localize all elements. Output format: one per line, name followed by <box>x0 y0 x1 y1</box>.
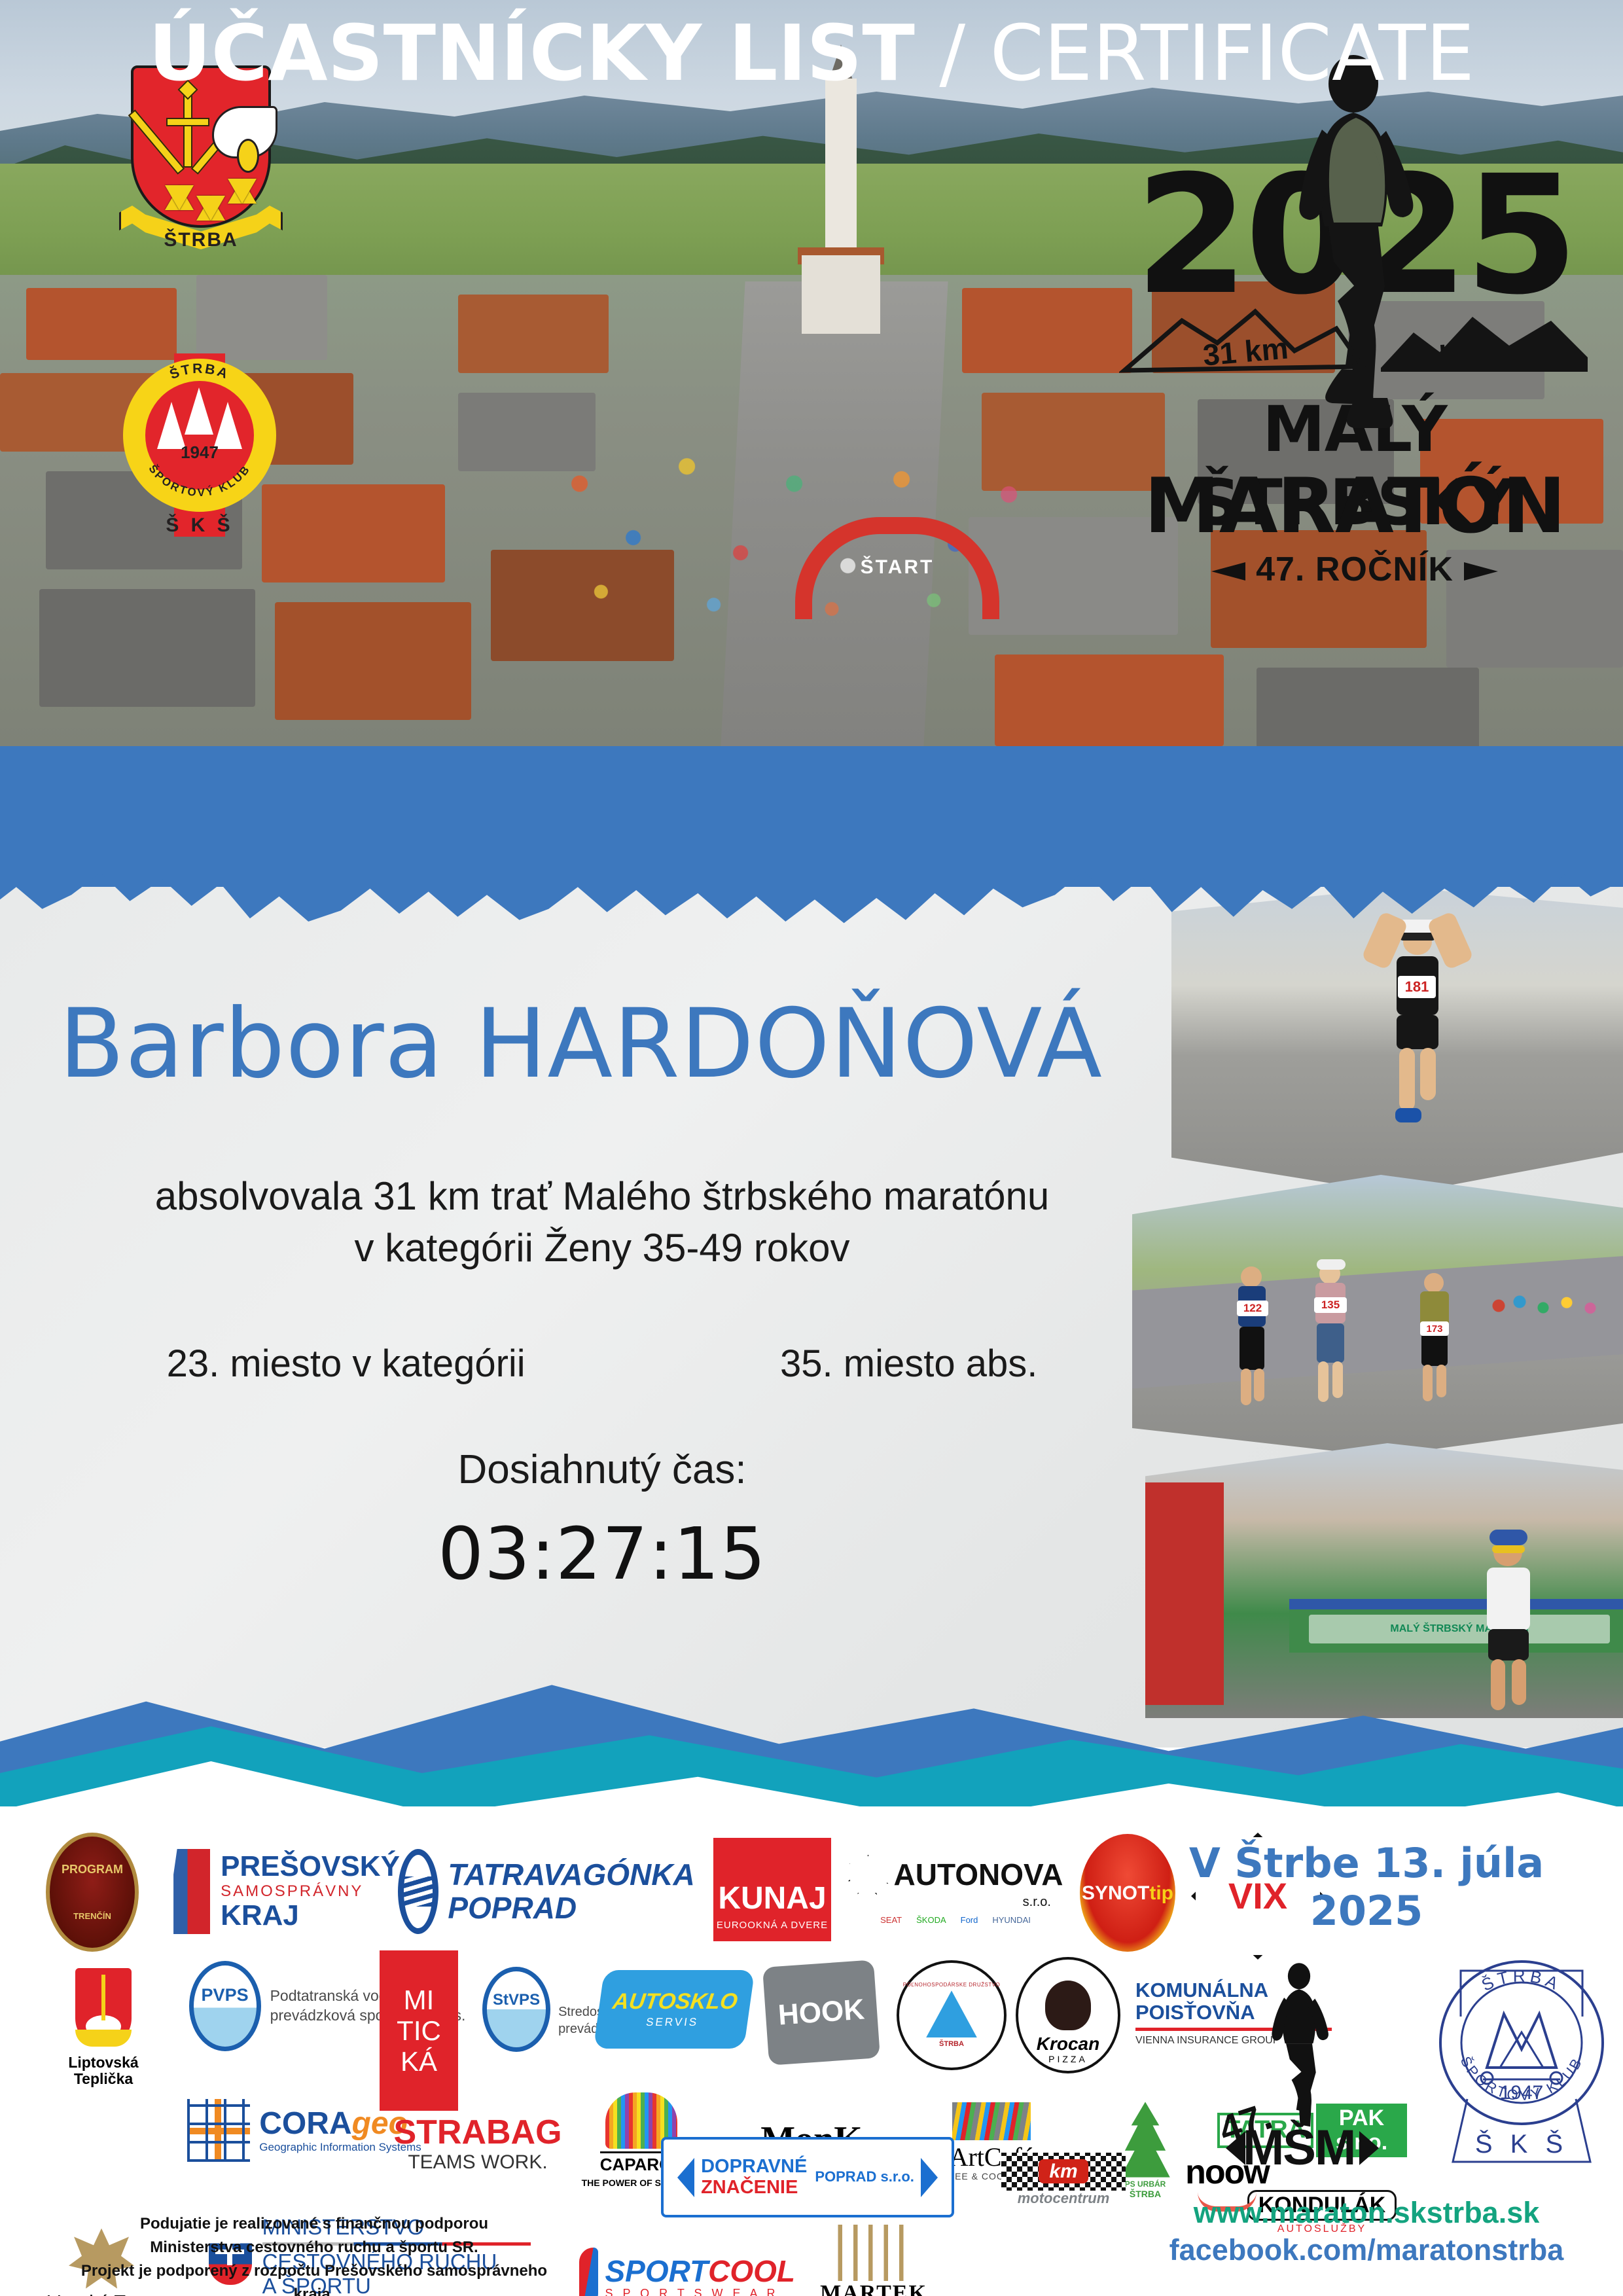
sponsor-program-trencin: PROGRAM TRENČÍN <box>46 1833 139 1952</box>
msm-arrow-right-icon <box>1359 2131 1379 2165</box>
sponsor-liptovska-teplicka: Liptovská Teplička <box>51 1956 156 2100</box>
teplicka-crest-icon <box>75 1968 132 2047</box>
runner-man-figure <box>1459 1528 1558 1718</box>
autonova-star-icon <box>848 1854 889 1895</box>
cutlery-icon <box>831 2225 916 2281</box>
sponsor-line2: TEAMS WORK. <box>408 2151 547 2173</box>
sleeve-cuff <box>237 139 259 173</box>
description-line-2: v kategórii Ženy 35-49 rokov <box>39 1222 1165 1274</box>
sponsor-line2: S P O R T S W E A R <box>605 2287 795 2296</box>
msm-arrow-left-icon <box>1226 2131 1245 2165</box>
sponsor-line1: MARTEK <box>820 2281 927 2296</box>
sportcool-swoosh-icon <box>579 2248 598 2296</box>
sponsor-line1: Krocan <box>1037 2034 1099 2054</box>
crest-label: ŠTRBA <box>119 229 283 251</box>
sponsor-line1: KUNAJ <box>718 1882 826 1916</box>
club-stamp: ŠTRBA ŠPORTOVÝ KLUB 1947 Š K Š <box>1427 1928 1616 2183</box>
sponsor-autonova: AUTONOVA s.r.o. SEAT ŠKODA Ford HYUNDAI <box>838 1836 1073 1944</box>
course-photo-group: 122 135 173 <box>1132 1175 1623 1456</box>
sponsor-line3: POPRAD s.r.o. <box>815 2169 914 2185</box>
sponsor-line2: POPRAD <box>448 1892 694 1925</box>
sponsor-hook: HOOK <box>762 1960 880 2065</box>
funding-note-line-1: Podujatie je realizované s finančnou pod… <box>65 2212 563 2236</box>
svg-text:Š K Š: Š K Š <box>1475 2129 1568 2159</box>
achievement-description: absolvovala 31 km trať Malého štrbského … <box>39 1170 1165 1274</box>
sponsor-line1: km <box>1039 2159 1088 2183</box>
place-in-category: 23. miesto v kategórii <box>167 1342 526 1386</box>
brand-skoda: ŠKODA <box>916 1916 946 1925</box>
event-logo: 2025 31 km 10 km MALÝ ŠTRBSKÝ MARATÓN <box>1106 26 1603 602</box>
corageo-grid-icon <box>187 2099 250 2162</box>
club-arc-text: ŠTRBA ŠPORTOVÝ KLUB <box>123 359 276 512</box>
funding-note: Podujatie je realizované s finančnou pod… <box>65 2212 563 2296</box>
sponsor-line1: HOOK <box>777 1994 865 2031</box>
page-title-en: CERTIFICATE <box>990 8 1475 98</box>
page-title-sk: ÚČASTNÍCKY LIST <box>149 8 915 98</box>
sponsor-line1: CORA <box>259 2106 351 2141</box>
sponsor-miticka: MI TIC KÁ <box>380 1950 458 2111</box>
arrow-right-icon <box>1464 562 1498 581</box>
finish-time-value: 03:27:15 <box>39 1512 1165 1596</box>
funding-note-line-3: Projekt je podporený z rozpočtu Prešovsk… <box>65 2259 563 2296</box>
finish-photo-woman: 181 <box>1171 887 1623 1194</box>
sponsor-line2: ZNAČENIE <box>701 2178 807 2198</box>
sponsor-dopravne-znacenie-poprad: DOPRAVNÉ ZNAČENIE POPRAD s.r.o. <box>661 2137 954 2217</box>
finish-photo-man: MALÝ ŠTRBSKÝ MARATÓN <box>1145 1443 1623 1718</box>
sponsor-kunaj: KUNAJ EUROOKNÁ A DVERE <box>713 1838 831 1941</box>
sponsor-line3: KÁ <box>401 2046 437 2077</box>
svg-text:1947: 1947 <box>1500 2082 1544 2104</box>
psk-emblem-icon <box>173 1849 210 1934</box>
issue-date: V Štrbe 13. júla 2025 <box>1137 1839 1596 1935</box>
brand-seat: SEAT <box>880 1916 902 1925</box>
sponsor-line1: PROGRAM <box>62 1863 123 1876</box>
placement-row: 23. miesto v kategórii 35. miesto abs. <box>39 1342 1165 1386</box>
sponsor-pd-strba: POĽNOHOSPODÁRSKE DRUŽSTVO ŠTRBA <box>897 1960 1007 2070</box>
artcafe-stripes-icon <box>952 2102 1031 2140</box>
brand-hyundai: HYUNDAI <box>992 1916 1031 1925</box>
website-link[interactable]: www.maraton.skstrba.sk <box>1137 2196 1596 2230</box>
finish-time-label: Dosiahnutý čas: <box>39 1446 1165 1493</box>
strba-sports-club-logo: 1947 ŠTRBA ŠPORTOVÝ KLUB Š K Š <box>118 327 281 543</box>
event-edition-label: 47. ROČNÍK <box>1256 550 1454 588</box>
runner-122: 122 <box>1224 1266 1280 1417</box>
sponsor-line1: Liptovská <box>68 2054 138 2071</box>
sponsor-line1: AUTONOVA <box>894 1858 1063 1892</box>
sponsor-line2: TRENČÍN <box>73 1912 111 1921</box>
arrow-left-icon <box>677 2158 694 2197</box>
event-edition: 47. ROČNÍK <box>1106 550 1603 589</box>
distant-runners-group <box>1486 1286 1616 1325</box>
sponsor-line1: StVPS <box>493 1992 540 2009</box>
sponsor-line1: STRABAG <box>393 2114 562 2151</box>
sponsor-line2: TIC <box>397 2015 441 2046</box>
page-title: ÚČASTNÍCKY LIST / CERTIFICATE <box>0 14 1623 92</box>
photo-collage: 181 122 135 <box>1106 887 1623 1738</box>
event-name-line2: MARATÓN <box>1106 462 1603 550</box>
msm-mark: 47. MŠM <box>1214 1937 1397 2179</box>
runner-173: 173 <box>1407 1273 1463 1417</box>
sponsor-tatravagonka-poprad: TATRAVAGÓNKA POPRAD <box>419 1849 674 1934</box>
place-absolute: 35. miesto abs. <box>780 1342 1037 1386</box>
sponsor-line2: PIZZA <box>1048 2054 1088 2064</box>
sponsor-line2: ŠTRBA <box>939 2040 964 2048</box>
club-abbreviation: Š K Š <box>154 514 245 537</box>
runner-woman-figure: 181 <box>1368 913 1466 1149</box>
sponsor-line2: motocentrum <box>1018 2191 1110 2206</box>
svg-text:ŠPORTOVÝ KLUB: ŠPORTOVÝ KLUB <box>146 462 253 499</box>
sponsor-line1: POĽNOHOSPODÁRSKE DRUŽSTVO <box>903 1982 1001 1988</box>
race-bib: 173 <box>1420 1321 1449 1336</box>
stvps-emblem-icon: StVPS <box>482 1967 550 2052</box>
facebook-link[interactable]: facebook.com/maratonstrba <box>1137 2233 1596 2267</box>
page-title-separator: / <box>915 8 990 98</box>
tatravagonka-emblem-icon <box>398 1849 438 1934</box>
water-drop-icon <box>926 1990 977 2037</box>
sponsor-line2: SERVIS <box>645 2017 700 2029</box>
sponsor-autosklo-servis: AUTOSKLO SERVIS <box>594 1970 755 2049</box>
svg-text:ŠTRBA: ŠTRBA <box>168 361 232 382</box>
sponsor-line3: KRAJ <box>221 1900 400 1931</box>
funding-note-line-2: Ministerstva cestovného ruchu a športu S… <box>65 2236 563 2259</box>
race-bib: 135 <box>1314 1297 1347 1313</box>
mountain-ridge-icon <box>1119 295 1590 380</box>
sponsor-line2: EUROOKNÁ A DVERE <box>717 1920 828 1931</box>
pvps-emblem-icon: PVPS <box>189 1961 261 2051</box>
arrow-right-icon <box>921 2158 938 2197</box>
sponsor-strabag: STRABAG TEAMS WORK. <box>380 2104 576 2183</box>
turkey-icon <box>1045 1981 1091 2030</box>
description-line-1: absolvovala 31 km trať Malého štrbského … <box>39 1170 1165 1222</box>
msm-abbr: MŠM <box>1243 2119 1355 2176</box>
sponsor-line1: PREŠOVSKÝ <box>221 1851 400 1882</box>
sponsor-line1: MI <box>404 1984 435 2015</box>
autonova-brands: SEAT ŠKODA Ford HYUNDAI <box>880 1916 1031 1925</box>
race-bib: 122 <box>1237 1300 1268 1316</box>
sponsor-line2: SAMOSPRÁVNY <box>221 1883 400 1900</box>
sponsor-presovsky-samospravny-kraj: PREŠOVSKÝ SAMOSPRÁVNY KRAJ <box>162 1846 411 1937</box>
sponsor-line2: s.r.o. <box>1023 1895 1051 1909</box>
sponsor-line2: Teplička <box>74 2071 133 2087</box>
sponsor-km-motocentrum: km motocentrum <box>982 2137 1145 2222</box>
sponsor-sportcool: SPORTCOOL S P O R T S W E A R <box>579 2232 795 2296</box>
brand-ford: Ford <box>961 1916 978 1925</box>
sponsor-krocan-pizza: Krocan PIZZA <box>1016 1957 1120 2073</box>
sponsor-line1: TATRAVAGÓNKA <box>448 1858 694 1892</box>
sponsor-line1: PVPS <box>202 1986 249 2005</box>
arrow-left-icon <box>1211 562 1245 581</box>
race-bib: 181 <box>1398 976 1436 998</box>
certificate-page: ŠTART ŠTRBA 1947 <box>0 0 1623 2296</box>
sponsor-line1: DOPRAVNÉ <box>701 2157 807 2178</box>
participant-name: Barbora HARDOŇOVÁ <box>59 988 1158 1100</box>
sponsor-line1: AUTOSKLO <box>611 1990 739 2014</box>
runner-135: 135 <box>1302 1263 1359 1420</box>
